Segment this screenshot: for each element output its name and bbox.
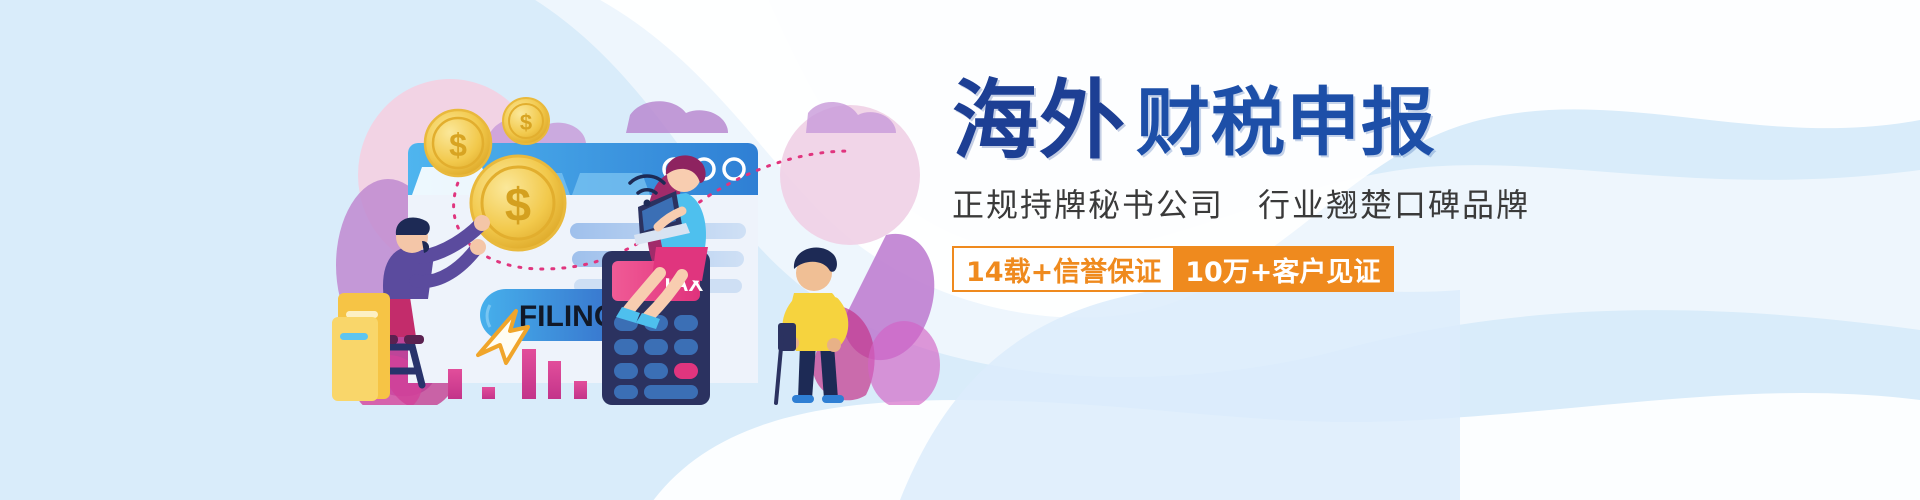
hero-illustration: $ $ $ [330,55,950,405]
svg-text:$: $ [449,127,467,163]
headline: 海外 财税申报 [952,78,1652,164]
headline-primary: 海外 [952,78,1126,164]
headline-accent: 财税申报 [1136,86,1436,164]
character-man-with-phone [776,247,844,403]
coin-icon-large: $ [471,156,565,250]
svg-text:$: $ [520,110,532,135]
badge-years: 14载+信誉保证 [954,248,1173,290]
badge-group: 14载+信誉保证 10万+客户见证 [952,246,1394,292]
coin-icon-medium: $ [425,110,491,176]
svg-text:$: $ [505,178,531,231]
subheadline: 正规持牌秘书公司 行业翘楚口碑品牌 [952,180,1652,226]
coin-icon-small: $ [503,98,549,144]
copy-block: 海外 财税申报 正规持牌秘书公司 行业翘楚口碑品牌 14载+信誉保证 10万+客… [952,78,1652,292]
document-folder [332,293,390,401]
promo-banner: $ $ $ [0,0,1920,500]
badge-customers: 10万+客户见证 [1173,248,1392,290]
